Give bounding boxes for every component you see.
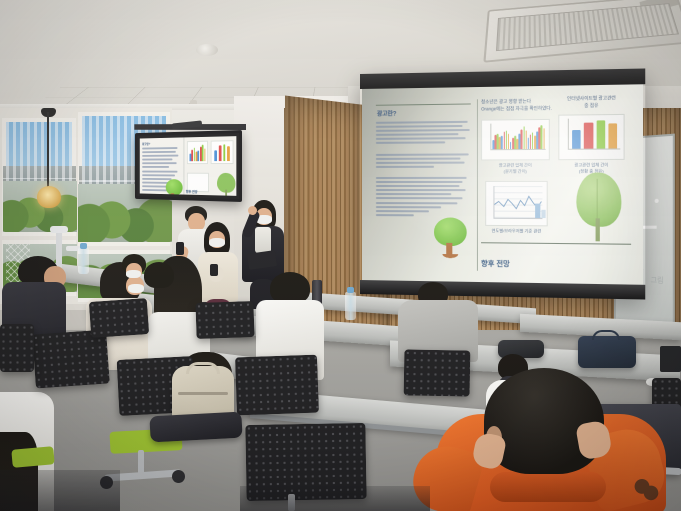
smartphone-icon[interactable] [176, 242, 184, 255]
shirt-collar [255, 227, 271, 253]
duffel-bag-handle [592, 330, 620, 340]
slide-header-left: 청소년은 광고 영향 받는다 Orange에는 점점 자극을 확인하였다. [481, 98, 554, 113]
foreground-shadow-left [0, 470, 120, 511]
slide-footer-title: 향후 전망 [481, 259, 510, 270]
chair-back-mid-1[interactable] [235, 355, 319, 416]
large-leafy-tree-icon [573, 172, 624, 241]
backpack-zipper [178, 392, 228, 395]
chair-caster-2 [172, 470, 185, 483]
classroom-photo: 광고란? [0, 0, 681, 511]
bar-chart-left-caption: 광고관련 업체 간이 (분기별 간이) [481, 162, 550, 175]
ceiling-air-conditioner-icon [483, 0, 681, 63]
lab-ring-stand-top [50, 226, 68, 233]
tree-icon [164, 179, 183, 196]
student-orange-hoodie [400, 368, 681, 511]
bar-chart-left [481, 119, 550, 161]
pendant-lamp-cord [47, 112, 49, 188]
slide-right-column: 청소년은 광고 영향 받는다 Orange에는 점점 자극을 확인하였다. 인터… [481, 95, 631, 275]
line-chart [485, 181, 548, 226]
slide-header-right: 인터넷사이트별 광고관련 중 점유 [558, 95, 624, 110]
projection-screen-surface: 광고란? [362, 84, 643, 285]
navy-duffel-bag[interactable] [578, 336, 636, 368]
whiteboard-note-2: 그림 [651, 275, 664, 286]
line-chart-caption: 연도별/브라우저별 기준 관련 [483, 228, 550, 235]
monitor-screen: 광고란? [140, 136, 237, 196]
black-jacket-on-chair [149, 412, 242, 443]
chair-back-row2-mid[interactable] [195, 301, 254, 339]
hoodie-hood [490, 472, 606, 502]
water-bottle-cap-1 [80, 243, 87, 249]
bar-chart-right [558, 114, 624, 160]
wall-mounted-display[interactable]: 광고란? [135, 130, 242, 202]
face-mask [126, 270, 141, 278]
chair-back-left-1[interactable] [32, 329, 110, 388]
window-pane-upper-left [2, 118, 76, 236]
hand [248, 206, 257, 215]
backpack-strap [186, 362, 220, 374]
slide-title: 광고란? [377, 108, 473, 118]
water-bottle-cap-2 [347, 287, 354, 293]
slide-left-column: 광고란? [376, 103, 473, 266]
pendant-lamp-bulb-icon [37, 186, 61, 208]
water-bottle-2 [345, 292, 356, 320]
face-mask [209, 238, 225, 247]
hair [144, 262, 174, 288]
tree-with-roots-icon [432, 217, 469, 262]
hoodie-print-graphic [630, 476, 660, 502]
presentation-slide: 광고란? [376, 95, 631, 275]
student-back-row-2 [142, 262, 178, 306]
foreground-shadow-mid [240, 486, 430, 511]
chair-back-far-left[interactable] [0, 324, 34, 372]
pull-down-projection-screen[interactable]: 광고란? [360, 68, 645, 299]
ceiling-speaker-icon [196, 44, 218, 56]
chair-back-row2-left[interactable] [89, 298, 149, 338]
chair-cushion-green-2 [11, 446, 54, 468]
